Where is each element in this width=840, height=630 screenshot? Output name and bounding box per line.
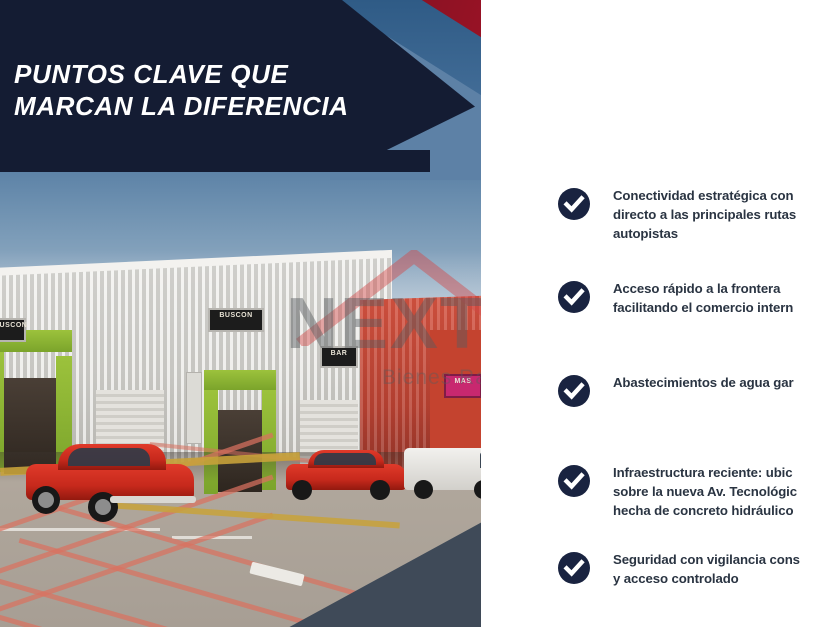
list-item: Conectividad estratégica con directo a l… <box>558 186 840 243</box>
slide-root: BUSCON BUSCON BAR MAS <box>0 0 840 630</box>
store-sign-4: MAS <box>444 374 482 398</box>
check-circle-icon <box>558 552 590 584</box>
store-sign-3: BAR <box>320 346 358 368</box>
window-panel <box>186 372 202 444</box>
check-circle-icon <box>558 465 590 497</box>
list-item-label: Infraestructura reciente: ubic sobre la … <box>613 463 840 520</box>
list-item-label: Abastecimientos de agua gar <box>613 373 840 392</box>
page-title-line-2: MARCAN LA DIFERENCIA <box>14 90 434 122</box>
list-item-label: Conectividad estratégica con directo a l… <box>613 186 840 243</box>
store-sign-2-label: BUSCON <box>210 310 262 321</box>
store-sign-1: BUSCON <box>0 318 26 342</box>
list-item-label: Acceso rápido a la frontera facilitando … <box>613 279 840 317</box>
list-item: Seguridad con vigilancia cons y acceso c… <box>558 550 840 606</box>
list-item: Acceso rápido a la frontera facilitando … <box>558 279 840 335</box>
list-item: Abastecimientos de agua gar <box>558 373 840 429</box>
check-circle-icon <box>558 281 590 313</box>
green-awning-2 <box>204 370 276 390</box>
check-circle-icon <box>558 375 590 407</box>
page-title-line-1: PUNTOS CLAVE QUE <box>14 59 288 89</box>
store-sign-4-label: MAS <box>446 376 480 387</box>
list-item-label: Seguridad con vigilancia cons y acceso c… <box>613 550 840 588</box>
title-banner-base <box>0 150 430 172</box>
check-circle-icon <box>558 188 590 220</box>
store-sign-1-label: BUSCON <box>0 320 24 331</box>
features-panel: Conectividad estratégica con directo a l… <box>483 0 840 630</box>
store-sign-2: BUSCON <box>208 308 264 332</box>
store-sign-3-label: BAR <box>322 348 356 359</box>
page-title: PUNTOS CLAVE QUE MARCAN LA DIFERENCIA <box>14 58 434 122</box>
features-list: Conectividad estratégica con directo a l… <box>558 186 840 630</box>
list-item: Infraestructura reciente: ubic sobre la … <box>558 463 840 520</box>
